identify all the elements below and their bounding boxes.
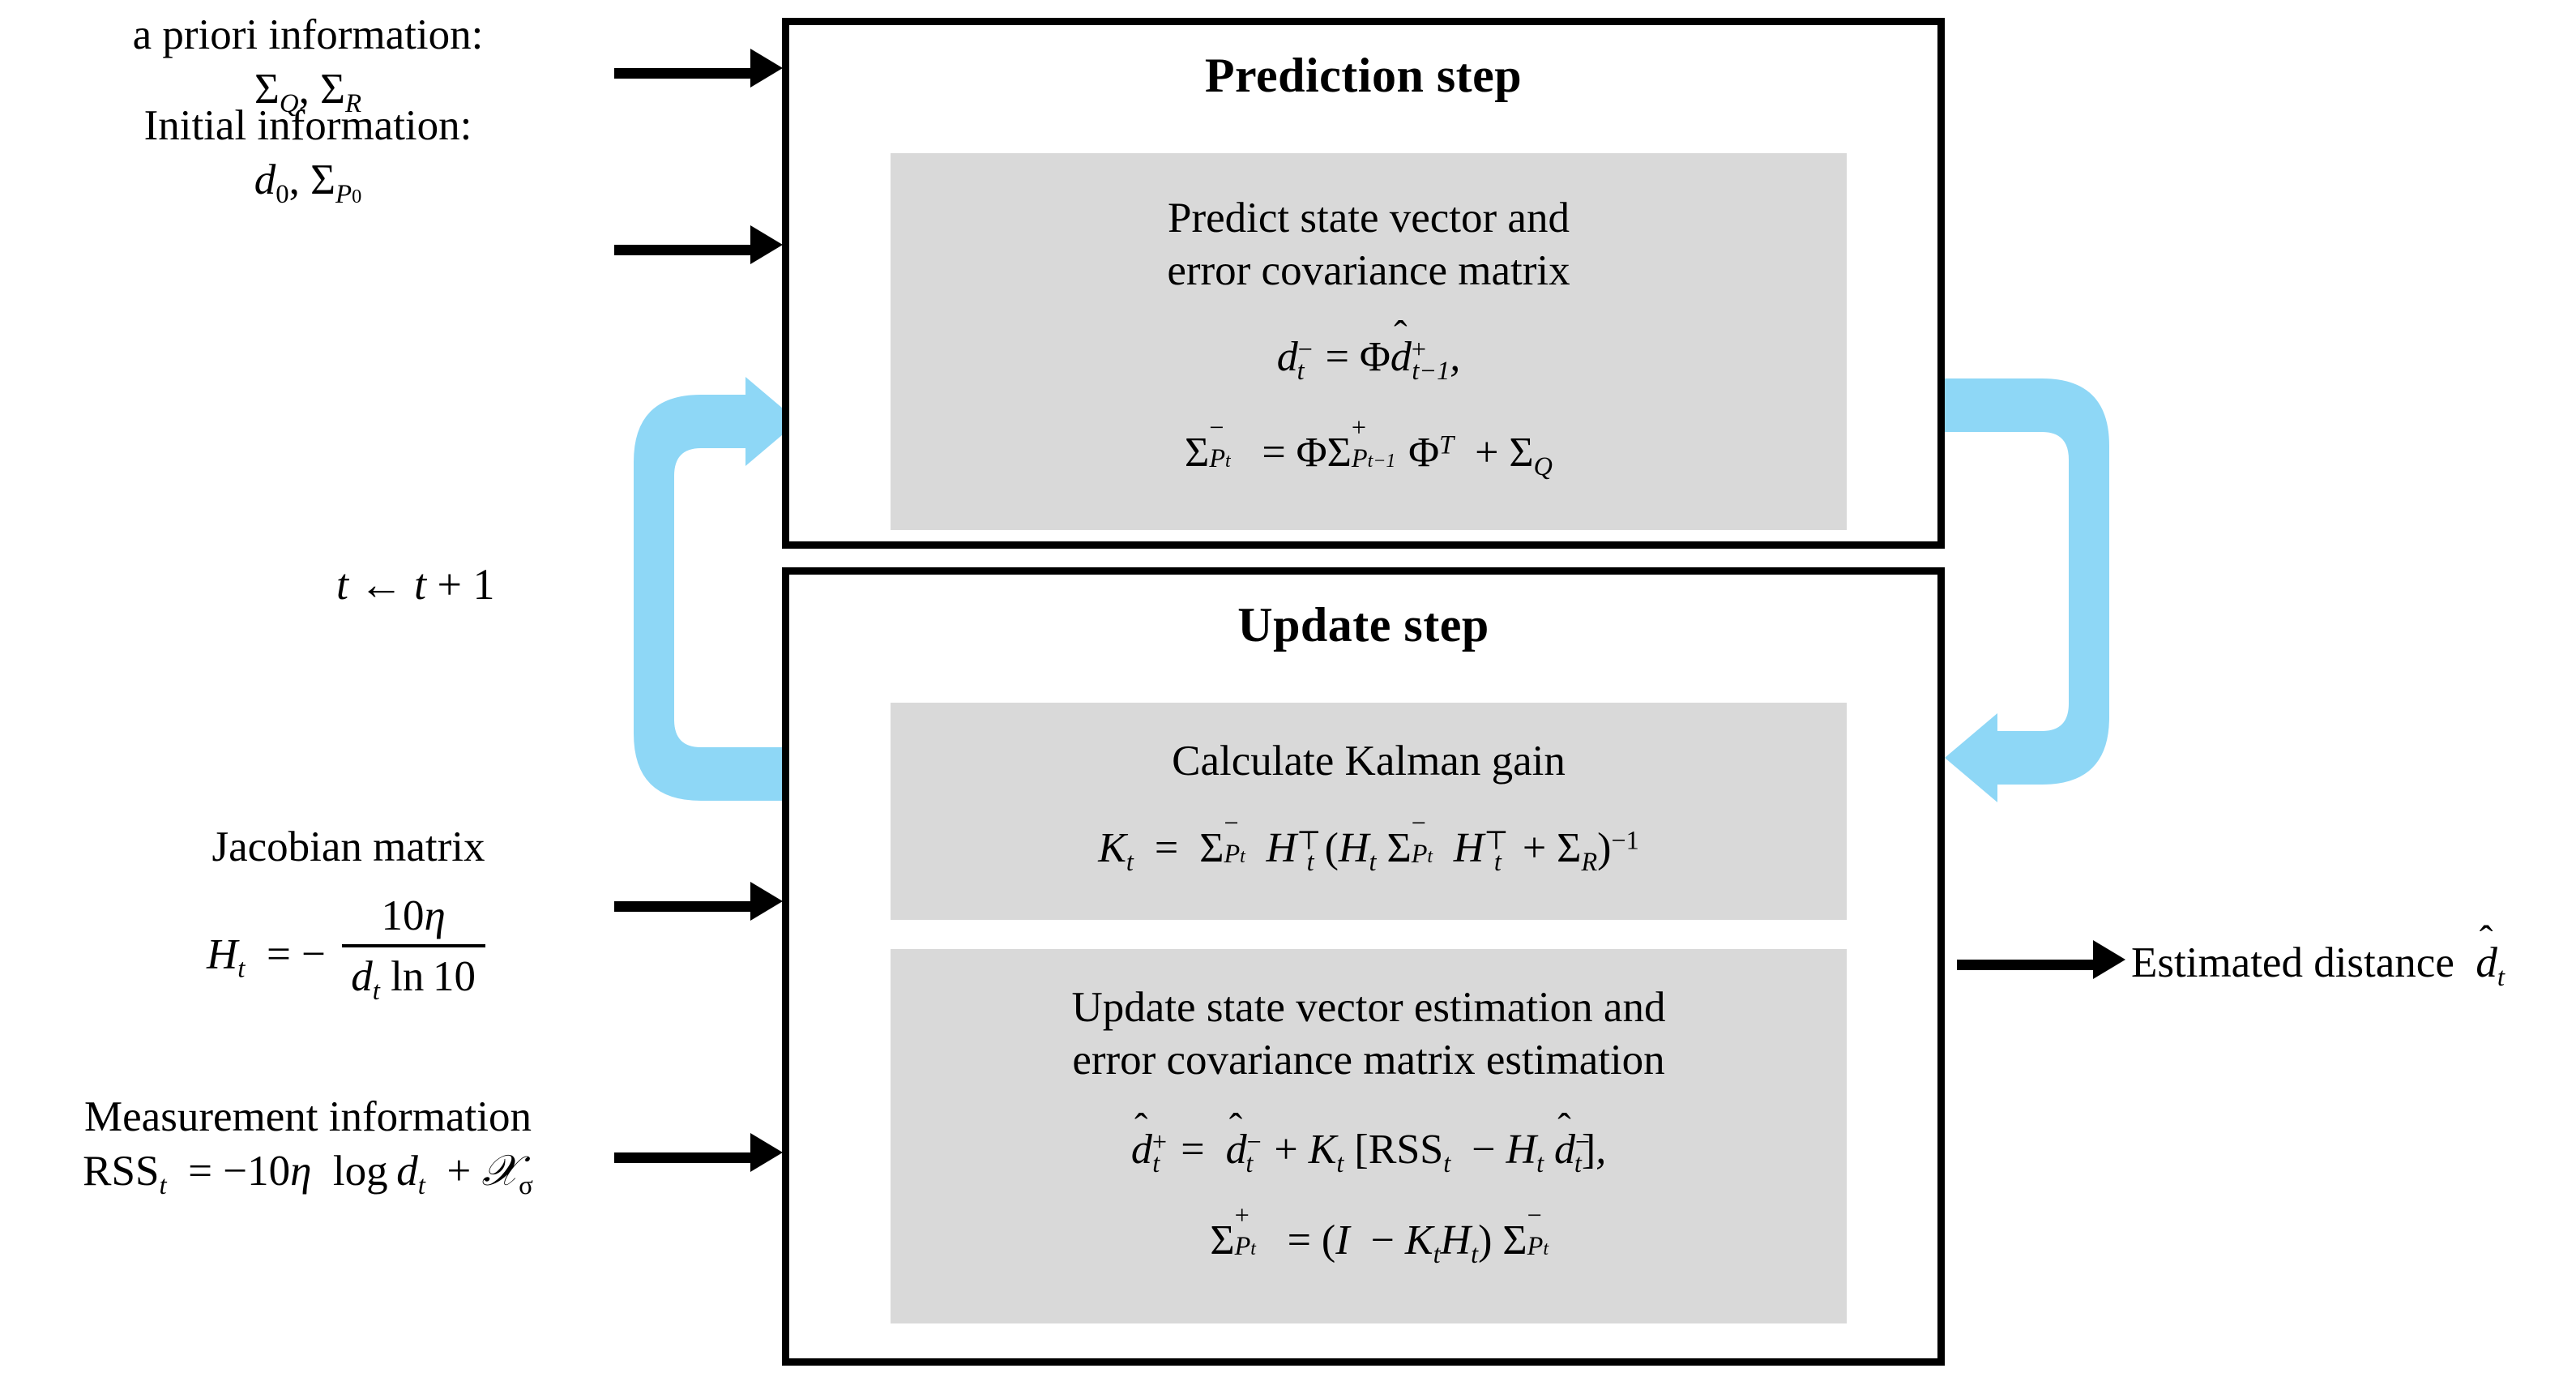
output-symbol: ̂dt [2465, 939, 2505, 986]
input-label-measurement-information: Measurement information RSSt = −10η log … [0, 1090, 616, 1199]
prediction-equation-state: d−t = Φ̂d+t−1, [891, 333, 1847, 381]
output-label-text: Estimated distance [2131, 939, 2454, 986]
prediction-step-title: Prediction step [789, 48, 1937, 104]
a-priori-information-text: a priori information: [49, 8, 567, 62]
kalman-gain-body: Calculate Kalman gain [891, 735, 1847, 788]
initial-information-text: Initial information: [49, 99, 567, 153]
output-label-estimated-distance: Estimated distance ̂dt [2131, 936, 2569, 990]
state-estimate-equation-covariance: Σ+Pt = (I − KtHt) Σ−Pt [891, 1217, 1847, 1264]
prediction-step-box[interactable]: Prediction step Predict state vector and… [782, 18, 1945, 549]
kalman-gain-equation: Kt = Σ−Pt H⊤t (Ht Σ−Pt H⊤t + ΣR)−1 [891, 824, 1847, 872]
prediction-step-body: Predict state vector and error covarianc… [891, 192, 1847, 297]
jacobian-matrix-text: Jacobian matrix [122, 820, 575, 874]
jacobian-matrix-formula: Ht = − 10η dt ln 10 [122, 889, 575, 1004]
loop-arrow-right [1941, 361, 2119, 802]
update-step-box[interactable]: Update step Calculate Kalman gain Kt = Σ… [782, 567, 1945, 1366]
kalman-gain-panel: Calculate Kalman gain Kt = Σ−Pt H⊤t (Ht … [891, 703, 1847, 920]
loop-increment-label: t ← t + 1 [336, 559, 495, 609]
state-estimate-panel: Update state vector estimation and error… [891, 949, 1847, 1323]
update-step-title: Update step [789, 597, 1937, 653]
initial-information-symbols: d0, ΣP0 [49, 153, 567, 207]
measurement-information-text: Measurement information [0, 1090, 616, 1144]
loop-arrow-left [624, 377, 802, 819]
state-estimate-equation-distance: ̂d+t = ̂d−t + Kt [RSSt − Ht ̂d−t], [891, 1126, 1847, 1174]
input-label-initial-information: Initial information: d0, ΣP0 [49, 99, 567, 207]
diagram-canvas: a priori information: ΣQ, ΣR Initial inf… [0, 0, 2576, 1394]
input-label-jacobian-matrix: Jacobian matrix Ht = − 10η dt ln 10 [122, 820, 575, 1004]
prediction-step-panel: Predict state vector and error covarianc… [891, 153, 1847, 530]
prediction-equation-covariance: Σ−Pt = ΦΣ+Pt−1ΦT + ΣQ [891, 429, 1847, 477]
measurement-information-formula: RSSt = −10η log dt + 𝒳σ [0, 1144, 616, 1199]
state-estimate-body: Update state vector estimation and error… [891, 981, 1847, 1086]
